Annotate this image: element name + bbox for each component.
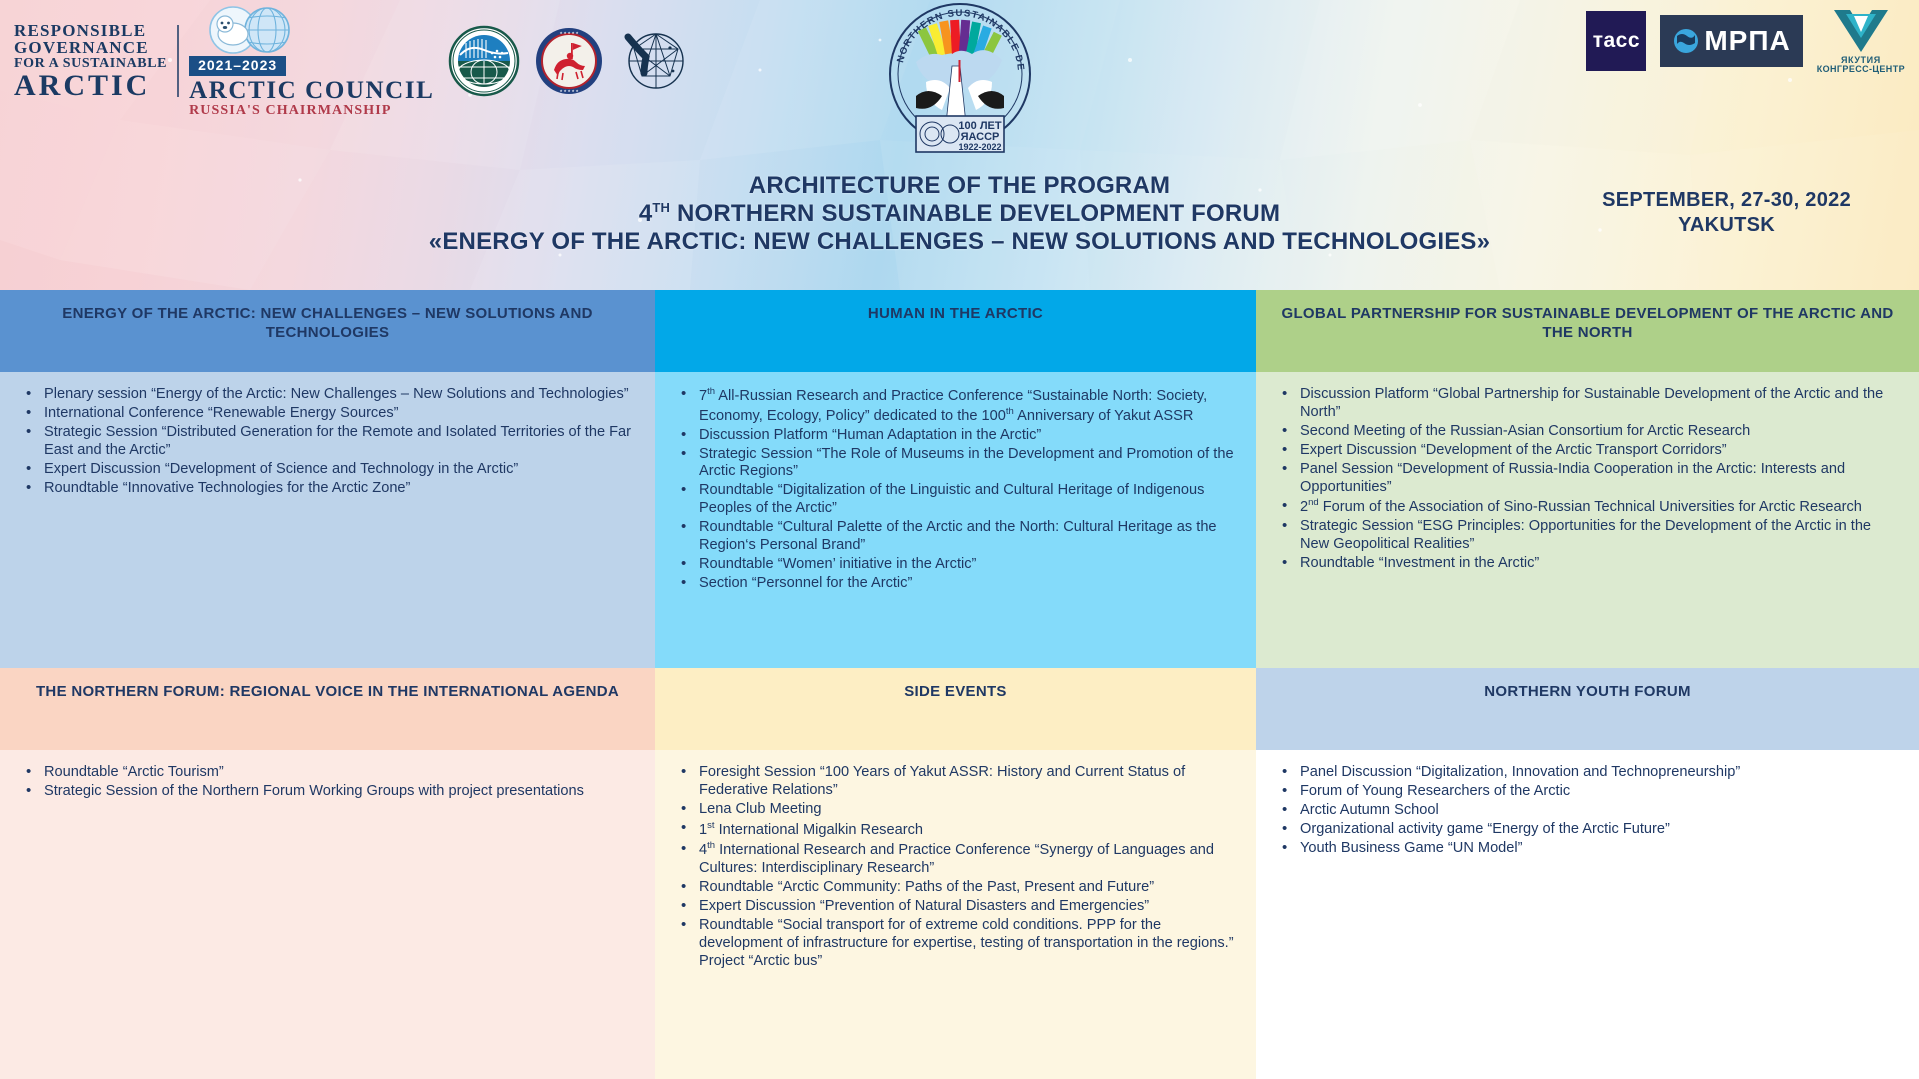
bullet-icon: • (1282, 441, 1287, 459)
event-location: YAKUTSK (1602, 213, 1851, 238)
congress-center-line-2: КОНГРЕСС-ЦЕНТР (1817, 65, 1905, 74)
list-item: •2nd Forum of the Association of Sino-Ru… (1270, 498, 1901, 518)
list-item-label: Discussion Platform “Human Adaptation in… (699, 427, 1041, 443)
panel-human-header: HUMAN IN THE ARCTIC (655, 290, 1256, 372)
list-item-label: Roundtable “Arctic Community: Paths of t… (699, 879, 1154, 895)
bullet-icon: • (26, 385, 31, 403)
bullet-icon: • (681, 916, 686, 934)
panel-energy-of-the-arctic[interactable]: ENERGY OF THE ARCTIC: NEW CHALLENGES – N… (0, 290, 655, 668)
panel-forum-list: •Roundtable “Arctic Tourism”•Strategic S… (14, 764, 637, 801)
list-item-label: Roundtable “Women’ initiative in the Arc… (699, 556, 976, 572)
list-item-label: 1st International Migalkin Research (699, 822, 923, 838)
program-grid: ENERGY OF THE ARCTIC: NEW CHALLENGES – N… (0, 290, 1919, 1079)
panel-youth-header: NORTHERN YOUTH FORUM (1256, 668, 1919, 750)
arctic-council-text: 2021–2023 ARCTIC COUNCIL RUSSIA'S CHAIRM… (189, 56, 434, 119)
list-item-label: Panel Discussion “Digitalization, Innova… (1300, 764, 1740, 780)
list-item: •Foresight Session “100 Years of Yakut A… (669, 764, 1238, 800)
event-date-location: SEPTEMBER, 27-30, 2022 YAKUTSK (1602, 188, 1851, 238)
list-item: •Expert Discussion “Development of the A… (1270, 442, 1901, 460)
chairmanship-label: RUSSIA'S CHAIRMANSHIP (189, 104, 434, 119)
chairmanship-years-badge: 2021–2023 (189, 56, 286, 76)
rg-line-4: ARCTIC (14, 71, 167, 101)
bullet-icon: • (1282, 497, 1287, 515)
bullet-icon: • (26, 423, 31, 441)
panel-youth-title: NORTHERN YOUTH FORUM (1484, 682, 1691, 701)
panel-global-partnership[interactable]: GLOBAL PARTNERSHIP FOR SUSTAINABLE DEVEL… (1256, 290, 1919, 668)
mrpa-logo: МРПА (1660, 15, 1802, 67)
list-item: •Youth Business Game “UN Model” (1270, 840, 1901, 858)
panel-youth-list: •Panel Discussion “Digitalization, Innov… (1270, 764, 1901, 858)
list-item: •Discussion Platform “Human Adaptation i… (669, 427, 1238, 445)
list-item-label: Roundtable “Digitalization of the Lingui… (699, 482, 1204, 516)
rg-line-2: GOVERNANCE (14, 39, 167, 56)
responsible-governance-text: RESPONSIBLE GOVERNANCE FOR A SUSTAINABLE… (14, 22, 167, 101)
bullet-icon: • (681, 574, 686, 592)
bullet-icon: • (1282, 763, 1287, 781)
list-item: •Section “Personnel for the Arctic” (669, 575, 1238, 593)
yakutsk-network-globe-logo (618, 27, 686, 95)
panel-global-title: GLOBAL PARTNERSHIP FOR SUSTAINABLE DEVEL… (1274, 304, 1901, 342)
banner-left-logos: RESPONSIBLE GOVERNANCE FOR A SUSTAINABLE… (8, 4, 686, 119)
rg-line-1: RESPONSIBLE (14, 22, 167, 39)
list-item: •Arctic Autumn School (1270, 802, 1901, 820)
list-item: •Roundtable “Investment in the Arctic” (1270, 555, 1901, 573)
bullet-icon: • (26, 404, 31, 422)
bullet-icon: • (681, 763, 686, 781)
bullet-icon: • (1282, 782, 1287, 800)
list-item: •Strategic Session “The Role of Museums … (669, 446, 1238, 482)
list-item: •Strategic Session “ESG Principles: Oppo… (1270, 518, 1901, 554)
list-item-label: Forum of Young Researchers of the Arctic (1300, 783, 1570, 799)
list-item: •Panel Discussion “Digitalization, Innov… (1270, 764, 1901, 782)
panel-side-header: SIDE EVENTS (655, 668, 1256, 750)
list-item: •1st International Migalkin Research (669, 820, 1238, 840)
panel-forum-title: THE NORTHERN FORUM: REGIONAL VOICE IN TH… (36, 682, 619, 701)
panel-side-body: •Foresight Session “100 Years of Yakut A… (655, 750, 1256, 1079)
bullet-icon: • (681, 840, 686, 858)
list-item-label: Organizational activity game “Energy of … (1300, 821, 1670, 837)
bullet-icon: • (1282, 554, 1287, 572)
logo-divider (177, 25, 179, 97)
program-architecture-poster: RESPONSIBLE GOVERNANCE FOR A SUSTAINABLE… (0, 0, 1919, 1079)
panel-human-body: •7th All-Russian Research and Practice C… (655, 372, 1256, 668)
panel-side-list: •Foresight Session “100 Years of Yakut A… (669, 764, 1238, 971)
bullet-icon: • (681, 897, 686, 915)
title-line-2-rest: NORTHERN SUSTAINABLE DEVELOPMENT FORUM (670, 200, 1280, 227)
list-item: •Roundtable “Women’ initiative in the Ar… (669, 556, 1238, 574)
list-item: •Roundtable “Digitalization of the Lingu… (669, 482, 1238, 518)
bullet-icon: • (681, 426, 686, 444)
event-date: SEPTEMBER, 27-30, 2022 (1602, 188, 1851, 213)
list-item: •Strategic Session “Distributed Generati… (14, 424, 637, 460)
list-item-label: Discussion Platform “Global Partnership … (1300, 386, 1883, 420)
list-item: •International Conference “Renewable Ene… (14, 405, 637, 423)
bullet-icon: • (26, 782, 31, 800)
list-item-label: Plenary session “Energy of the Arctic: N… (44, 386, 629, 402)
list-item: •Roundtable “Arctic Community: Paths of … (669, 879, 1238, 897)
list-item-label: Section “Personnel for the Arctic” (699, 575, 912, 591)
list-item-label: Strategic Session “Distributed Generatio… (44, 424, 631, 458)
bullet-icon: • (681, 555, 686, 573)
list-item: •4th International Research and Practice… (669, 841, 1238, 879)
list-item: •Organizational activity game “Energy of… (1270, 821, 1901, 839)
list-item-label: Foresight Session “100 Years of Yakut AS… (699, 764, 1185, 798)
list-item-label: Roundtable “Arctic Tourism” (44, 764, 224, 780)
arctic-council-chairmanship-logo: RESPONSIBLE GOVERNANCE FOR A SUSTAINABLE… (8, 4, 434, 119)
bullet-icon: • (1282, 839, 1287, 857)
panel-forum-body: •Roundtable “Arctic Tourism”•Strategic S… (0, 750, 655, 1079)
list-item: •Roundtable “Social transport for of ext… (669, 917, 1238, 971)
list-item-label: Roundtable “Innovative Technologies for … (44, 480, 410, 496)
panel-northern-youth-forum[interactable]: NORTHERN YOUTH FORUM •Panel Discussion “… (1256, 668, 1919, 1079)
panel-side-events[interactable]: SIDE EVENTS •Foresight Session “100 Year… (655, 668, 1256, 1079)
arctic-council-label: ARCTIC COUNCIL (189, 78, 434, 104)
list-item-label: Arctic Autumn School (1300, 802, 1439, 818)
panel-energy-title: ENERGY OF THE ARCTIC: NEW CHALLENGES – N… (18, 304, 637, 342)
bullet-icon: • (681, 878, 686, 896)
bullet-icon: • (681, 385, 686, 403)
panel-human-in-the-arctic[interactable]: HUMAN IN THE ARCTIC •7th All-Russian Res… (655, 290, 1256, 668)
list-item-label: Panel Session “Development of Russia-Ind… (1300, 461, 1845, 495)
bullet-icon: • (26, 479, 31, 497)
list-item-label: Expert Discussion “Development of Scienc… (44, 461, 518, 477)
svg-text:★ ★ ★ ★ ★: ★ ★ ★ ★ ★ (560, 31, 579, 35)
tass-logo: тасс (1586, 11, 1646, 71)
list-item: •Panel Session “Development of Russia-In… (1270, 461, 1901, 497)
arctic-council-bear-globe-logo (189, 4, 309, 56)
list-item-label: 2nd Forum of the Association of Sino-Rus… (1300, 499, 1862, 515)
panel-northern-forum[interactable]: THE NORTHERN FORUM: REGIONAL VOICE IN TH… (0, 668, 655, 1079)
panel-side-title: SIDE EVENTS (904, 682, 1007, 701)
panel-global-list: •Discussion Platform “Global Partnership… (1270, 386, 1901, 573)
program-row-2: THE NORTHERN FORUM: REGIONAL VOICE IN TH… (0, 668, 1919, 1079)
bullet-icon: • (1282, 801, 1287, 819)
list-item: •Expert Discussion “Prevention of Natura… (669, 898, 1238, 916)
yakutia-coat-of-arms-logo: ★ ★ ★ ★ ★ ★ ★ ★ ★ ★ (534, 26, 604, 96)
list-item-label: Youth Business Game “UN Model” (1300, 840, 1523, 856)
list-item: •Plenary session “Energy of the Arctic: … (14, 386, 637, 404)
list-item: •Lena Club Meeting (669, 801, 1238, 819)
northern-forum-logo (448, 25, 520, 97)
banner-right-logos: тасс МРПА ЯКУТИЯ КОНГРЕСС-ЦЕНТР (1586, 8, 1905, 75)
panel-global-body: •Discussion Platform “Global Partnership… (1256, 372, 1919, 668)
svg-text:1922-2022: 1922-2022 (958, 142, 1001, 152)
list-item: •Discussion Platform “Global Partnership… (1270, 386, 1901, 422)
list-item: •Strategic Session of the Northern Forum… (14, 783, 637, 801)
bullet-icon: • (1282, 460, 1287, 478)
bullet-icon: • (681, 819, 686, 837)
bullet-icon: • (1282, 385, 1287, 403)
bullet-icon: • (1282, 820, 1287, 838)
list-item-label: International Conference “Renewable Ener… (44, 405, 399, 421)
list-item-label: Roundtable “Investment in the Arctic” (1300, 555, 1539, 571)
panel-human-list: •7th All-Russian Research and Practice C… (669, 386, 1238, 593)
list-item-label: Roundtable “Social transport for of extr… (699, 917, 1234, 969)
bullet-icon: • (681, 800, 686, 818)
list-item-label: Strategic Session of the Northern Forum … (44, 783, 584, 799)
tass-logo-text: тасс (1593, 29, 1640, 53)
panel-energy-header: ENERGY OF THE ARCTIC: NEW CHALLENGES – N… (0, 290, 655, 372)
congress-center-chevron-icon (1832, 8, 1890, 54)
bullet-icon: • (1282, 517, 1287, 535)
bullet-icon: • (26, 763, 31, 781)
list-item-label: Expert Discussion “Development of the Ar… (1300, 442, 1727, 458)
mrpa-logo-text: МРПА (1704, 25, 1790, 57)
panel-energy-list: •Plenary session “Energy of the Arctic: … (14, 386, 637, 498)
list-item: •7th All-Russian Research and Practice C… (669, 386, 1238, 426)
mrpa-globe-icon (1672, 27, 1700, 55)
bullet-icon: • (681, 445, 686, 463)
list-item: •Roundtable “Cultural Palette of the Arc… (669, 519, 1238, 555)
list-item: •Roundtable “Innovative Technologies for… (14, 480, 637, 498)
list-item-label: Lena Club Meeting (699, 801, 822, 817)
list-item-label: 4th International Research and Practice … (699, 842, 1214, 876)
list-item-label: Roundtable “Cultural Palette of the Arct… (699, 519, 1217, 553)
poster-banner: RESPONSIBLE GOVERNANCE FOR A SUSTAINABLE… (0, 0, 1919, 290)
list-item-label: Second Meeting of the Russian-Asian Cons… (1300, 423, 1750, 439)
panel-youth-body: •Panel Discussion “Digitalization, Innov… (1256, 750, 1919, 1079)
panel-global-header: GLOBAL PARTNERSHIP FOR SUSTAINABLE DEVEL… (1256, 290, 1919, 372)
list-item-label: Expert Discussion “Prevention of Natural… (699, 898, 1149, 914)
list-item-label: Strategic Session “The Role of Museums i… (699, 446, 1234, 480)
list-item: •Forum of Young Researchers of the Arcti… (1270, 783, 1901, 801)
program-row-1: ENERGY OF THE ARCTIC: NEW CHALLENGES – N… (0, 290, 1919, 668)
panel-forum-header: THE NORTHERN FORUM: REGIONAL VOICE IN TH… (0, 668, 655, 750)
bullet-icon: • (1282, 422, 1287, 440)
list-item: •Second Meeting of the Russian-Asian Con… (1270, 423, 1901, 441)
yakutia-congress-center-logo: ЯКУТИЯ КОНГРЕСС-ЦЕНТР (1817, 8, 1905, 75)
title-line-2-number: 4 (639, 200, 653, 227)
list-item: •Roundtable “Arctic Tourism” (14, 764, 637, 782)
list-item-label: 7th All-Russian Research and Practice Co… (699, 388, 1207, 424)
bullet-icon: • (681, 481, 686, 499)
panel-energy-body: •Plenary session “Energy of the Arctic: … (0, 372, 655, 668)
nsdf-emblem-logo: NORTHERN SUSTAINABLE DEVELOPMENT (882, 0, 1038, 171)
bullet-icon: • (681, 518, 686, 536)
list-item: •Expert Discussion “Development of Scien… (14, 461, 637, 479)
panel-human-title: HUMAN IN THE ARCTIC (868, 304, 1043, 323)
bullet-icon: • (26, 460, 31, 478)
title-line-2-ordinal: TH (652, 200, 670, 215)
svg-text:★ ★ ★ ★ ★: ★ ★ ★ ★ ★ (560, 89, 579, 93)
list-item-label: Strategic Session “ESG Principles: Oppor… (1300, 518, 1871, 552)
